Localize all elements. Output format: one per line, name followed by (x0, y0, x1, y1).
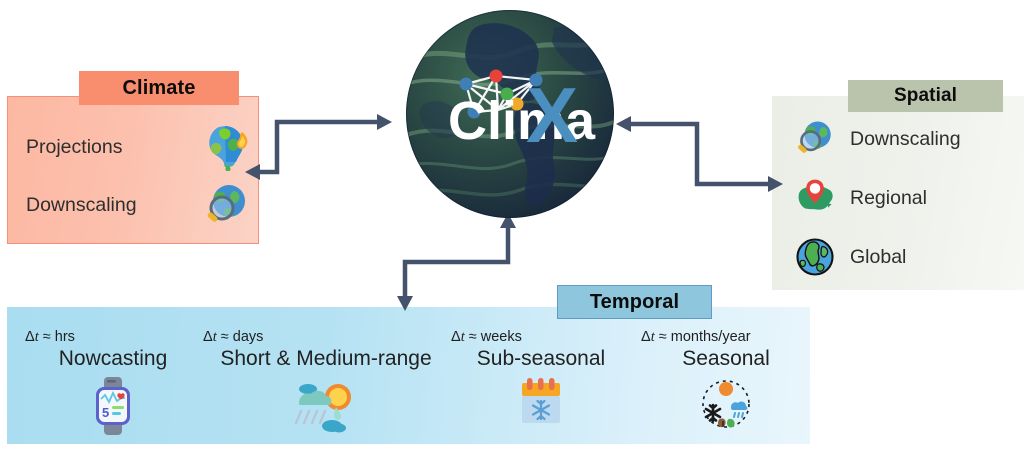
temporal-item-label: Short & Medium-range (220, 347, 431, 371)
arrow-head-to-globe (377, 114, 392, 130)
svg-text:5: 5 (102, 405, 109, 420)
map-pin-region-icon (794, 177, 836, 219)
temporal-item-nowcasting[interactable]: Δt ≈ hrs Nowcasting 5 (15, 329, 211, 435)
climate-globe-connector (244, 110, 414, 220)
logo-text-x: X (526, 71, 578, 159)
climate-panel-title: Climate (79, 71, 239, 105)
four-seasons-icon (698, 377, 754, 431)
climate-item-label: Projections (26, 136, 122, 159)
spatial-panel: Downscaling Regional Global (772, 96, 1024, 290)
delta-t-label: Δt ≈ days (203, 329, 263, 346)
temporal-panel-title: Temporal (557, 285, 712, 319)
spatial-item-global[interactable]: Global (794, 236, 906, 278)
spatial-item-label: Regional (850, 187, 927, 210)
spatial-panel-title: Spatial (848, 80, 1003, 112)
globe-africa-icon (794, 236, 836, 278)
sun-rain-cloud-icon (291, 377, 361, 433)
globe-magnifier-icon (794, 118, 836, 160)
temporal-globe-connector (392, 212, 532, 312)
delta-t-label: Δt ≈ weeks (451, 329, 522, 346)
arrow-head-to-spatial (768, 176, 783, 192)
climate-item-downscaling[interactable]: Downscaling (26, 181, 250, 229)
delta-t-label: Δt ≈ hrs (25, 329, 75, 346)
temporal-item-seasonal[interactable]: Δt ≈ months/year Seasonal (631, 329, 821, 431)
arrow-head-to-globe (616, 116, 631, 132)
earth-globe-icon: Clima X (404, 8, 616, 220)
climate-item-projections[interactable]: Projections (26, 123, 250, 171)
climate-panel: Projections Downscaling (7, 96, 259, 244)
arrow-head-to-climate (245, 164, 260, 180)
globe-magnifier-icon (202, 181, 250, 229)
smartwatch-icon: 5 (90, 377, 136, 435)
temporal-item-sub-seasonal[interactable]: Δt ≈ weeks Sub-seasonal (441, 329, 641, 429)
arrow-head-to-temporal (397, 296, 413, 311)
climate-item-label: Downscaling (26, 194, 137, 217)
spatial-item-regional[interactable]: Regional (794, 177, 927, 219)
spatial-item-downscaling[interactable]: Downscaling (794, 118, 961, 160)
delta-t-label: Δt ≈ months/year (641, 329, 751, 346)
temporal-item-short-medium-range[interactable]: Δt ≈ days Short & Medium-range (193, 329, 459, 433)
calendar-snowflake-icon (515, 377, 567, 429)
temporal-item-label: Nowcasting (59, 347, 168, 371)
temporal-panel: Δt ≈ hrs Nowcasting 5 Δt ≈ days Short & … (7, 307, 810, 444)
spatial-globe-connector (612, 112, 784, 224)
temporal-item-label: Sub-seasonal (477, 347, 605, 371)
melting-globe-fire-icon (202, 123, 250, 171)
climax-logo: Clima X (404, 8, 616, 220)
temporal-item-label: Seasonal (682, 347, 770, 371)
spatial-item-label: Global (850, 246, 906, 269)
spatial-item-label: Downscaling (850, 128, 961, 151)
